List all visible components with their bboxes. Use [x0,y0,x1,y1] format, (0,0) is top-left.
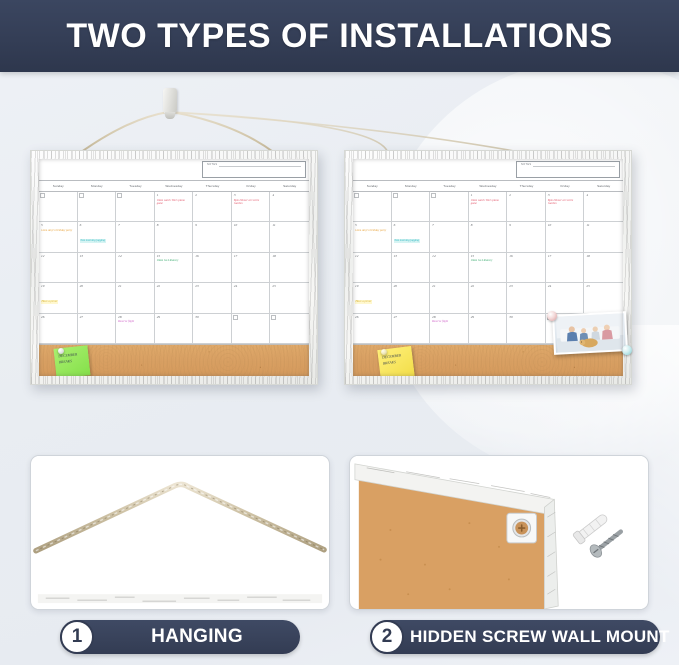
calendar-cell[interactable]: 511am Amy's birthday party [353,222,392,252]
badge-number-2: 2 [370,620,404,654]
rope-detail-illustration [31,456,329,609]
family-photo-artwork [554,313,626,353]
day-checkbox[interactable] [271,315,276,320]
calendar-cell[interactable]: 30 [193,314,232,344]
day-number: 6 [394,223,428,228]
notes-box-left[interactable]: NOTES [202,161,306,178]
calendar-entry: 11am Amy's birthday party [355,229,389,233]
calendar-cell[interactable]: 110am watch Tim's piano game [155,192,194,222]
calendar-cell[interactable]: 25 [584,283,623,313]
calendar-cell[interactable]: 17 [546,253,585,283]
calendar-cell[interactable]: 10 [546,222,585,252]
calendar-grid-left[interactable]: 110am watch Tim's piano game238pm Dinner… [39,192,309,344]
day-checkbox[interactable] [431,193,436,198]
calendar-cell[interactable]: 8 [469,222,508,252]
day-number: 12 [355,254,389,259]
day-number: 30 [195,315,229,320]
day-number: 7 [432,223,466,228]
weekday-wednesday: Wednesday [469,181,508,192]
calendar-entry: 7am morning jogging [394,239,420,243]
weekday-header-left: Sunday Monday Tuesday Wednesday Thursday… [39,181,309,192]
calendar-cell[interactable]: 19Have a picnic [39,283,78,313]
day-number: 24 [234,284,268,289]
calendar-cell[interactable]: 7 [430,222,469,252]
day-number: 21 [118,284,152,289]
day-number: 10 [234,223,268,228]
calendar-cell[interactable]: 10 [232,222,271,252]
calendar-entry: 8pm Dinner at Centre Garden [234,199,268,206]
label-hanging[interactable]: 1 HANGING [60,620,300,654]
day-number: 13 [394,254,428,259]
calendar-cell[interactable]: 4 [270,192,309,222]
weekday-friday: Friday [546,181,585,192]
day-checkbox[interactable] [117,193,122,198]
day-number: 9 [509,223,543,228]
weekday-sunday: Sunday [39,181,78,192]
page-title: TWO TYPES OF INSTALLATIONS [66,17,612,56]
calendar-cell[interactable]: 14 [430,253,469,283]
calendar-cell[interactable]: 38pm Dinner at Centre Garden [232,192,271,222]
label-wall-mount-text: HIDDEN SCREW WALL MOUNT [404,627,676,647]
calendar-cell[interactable]: 21 [116,283,155,313]
calendar-entry: 10am watch Tim's piano game [471,199,505,206]
notes-box-right[interactable]: NOTES [516,161,620,178]
calendar-cell[interactable]: 2 [193,192,232,222]
calendar-cell[interactable]: 22 [469,283,508,313]
calendar-cell[interactable]: 29 [155,314,194,344]
calendar-cell[interactable]: 7 [116,222,155,252]
day-number: 29 [157,315,191,320]
calendar-cell[interactable]: 27 [392,314,431,344]
calendar-cell[interactable]: 29 [469,314,508,344]
calendar-cell[interactable]: 12 [353,253,392,283]
weekday-monday: Monday [392,181,431,192]
calendar-cell[interactable]: 9 [507,222,546,252]
calendar-cell[interactable]: 25 [270,283,309,313]
day-number: 14 [118,254,152,259]
day-number: 8 [471,223,505,228]
calendar-cell[interactable]: 16 [193,253,232,283]
calendar-entry: 7am morning jogging [80,239,106,243]
calendar-cell[interactable]: 23 [193,283,232,313]
calendar-cell[interactable]: 30 [507,314,546,344]
day-number: 14 [432,254,466,259]
family-photo[interactable] [552,311,628,355]
day-number: 17 [234,254,268,259]
weekday-saturday: Saturday [270,181,309,192]
weekday-monday: Monday [78,181,117,192]
calendar-cell[interactable]: 26 [353,314,392,344]
calendar-cell[interactable]: 13 [392,253,431,283]
notes-label-right: NOTES [521,163,531,166]
day-number: 29 [471,315,505,320]
calendar-cell[interactable] [78,192,117,222]
calendar-entry: 8pm Dinner at Centre Garden [548,199,582,206]
screw-mount-illustration [350,456,648,609]
calendar-cell[interactable]: 20 [78,283,117,313]
weekday-tuesday: Tuesday [116,181,155,192]
calendar-entry: Have a picnic [355,300,372,304]
notes-row-left: NOTES [39,159,309,181]
weekday-saturday: Saturday [584,181,623,192]
day-number: 22 [157,284,191,289]
day-number: 20 [394,284,428,289]
day-number: 13 [80,254,114,259]
calendar-cell[interactable]: 16 [507,253,546,283]
calendar-cell[interactable]: 1510am Go Libarary [469,253,508,283]
calendar-cell[interactable]: 28Reserve flight [116,314,155,344]
weekday-friday: Friday [232,181,271,192]
calendar-entry: Reserve flight [432,320,466,324]
day-number: 19 [355,284,389,289]
day-number: 26 [41,315,75,320]
calendar-cell[interactable]: 12 [39,253,78,283]
calendar-cell[interactable] [392,192,431,222]
notes-label-left: NOTES [207,163,217,166]
calendar-cell[interactable]: 24 [546,283,585,313]
calendar-cell[interactable]: 11 [270,222,309,252]
calendar-entry: Reserve flight [118,320,152,324]
calendar-cell[interactable]: 18 [270,253,309,283]
weekday-thursday: Thursday [507,181,546,192]
calendar-boards-row: NOTES Sunday Monday Tuesday Wednesday Th… [0,150,679,400]
notes-rule-left [219,166,301,167]
calendar-cell[interactable]: 14 [116,253,155,283]
weekday-tuesday: Tuesday [430,181,469,192]
weekday-sunday: Sunday [353,181,392,192]
calendar-cell[interactable] [353,192,392,222]
calendar-cell[interactable]: 17 [232,253,271,283]
day-number: 16 [195,254,229,259]
calendar-cell[interactable]: 38pm Dinner at Centre Garden [546,192,585,222]
day-number: 25 [586,284,621,289]
badge-number-1: 1 [60,620,94,654]
push-pin-icon-right [381,349,387,355]
calendar-cell[interactable]: 28Reserve flight [430,314,469,344]
calendar-cell[interactable]: 19Have a picnic [353,283,392,313]
calendar-cell[interactable] [270,314,309,344]
calendar-cell[interactable]: 8 [155,222,194,252]
day-number: 16 [509,254,543,259]
board-face-left: NOTES Sunday Monday Tuesday Wednesday Th… [39,159,309,376]
calendar-cell[interactable] [116,192,155,222]
day-number: 7 [118,223,152,228]
calendar-cell[interactable]: 110am watch Tim's piano game [469,192,508,222]
day-number: 18 [586,254,621,259]
calendar-cell[interactable]: 24 [232,283,271,313]
calendar-cell[interactable]: 1510am Go Libarary [155,253,194,283]
calendar-cell[interactable]: 26 [39,314,78,344]
day-number: 18 [272,254,307,259]
weekday-header-right: Sunday Monday Tuesday Wednesday Thursday… [353,181,623,192]
calendar-entry: 10am watch Tim's piano game [157,199,191,206]
weekday-wednesday: Wednesday [155,181,194,192]
calendar-entry: 11am Amy's birthday party [41,229,75,233]
day-number: 23 [509,284,543,289]
family-photo-image [554,313,626,353]
calendar-cell[interactable]: 20 [392,283,431,313]
day-number: 30 [509,315,543,320]
day-number: 12 [41,254,75,259]
day-number: 4 [586,193,621,198]
day-number: 2 [195,193,229,198]
day-number: 17 [548,254,582,259]
day-number: 24 [548,284,582,289]
calendar-cell[interactable]: 22 [155,283,194,313]
calendar-cell[interactable]: 23 [507,283,546,313]
calendar-cell[interactable]: 9 [193,222,232,252]
calendar-cell[interactable] [232,314,271,344]
calendar-cell[interactable]: 21 [430,283,469,313]
calendar-board-right[interactable]: NOTES Sunday Monday Tuesday Wednesday Th… [344,150,632,385]
day-checkbox[interactable] [233,315,238,320]
day-number: 8 [157,223,191,228]
calendar-entry: 10am Go Libarary [471,259,505,263]
calendar-cell[interactable] [430,192,469,222]
wall-hook-icon [163,88,177,114]
day-number: 20 [80,284,114,289]
calendar-cell[interactable]: 67am morning jogging [78,222,117,252]
day-number: 10 [548,223,582,228]
calendar-cell[interactable]: 18 [584,253,623,283]
day-number: 9 [195,223,229,228]
label-hanging-text: HANGING [94,626,300,648]
day-number: 11 [586,223,621,228]
day-number: 27 [80,315,114,320]
day-checkbox[interactable] [393,193,398,198]
label-wall-mount[interactable]: 2 HIDDEN SCREW WALL MOUNT [370,620,660,654]
notes-row-right: NOTES [353,159,623,181]
day-number: 2 [509,193,543,198]
push-pin-icon-left [58,348,64,354]
calendar-cell[interactable] [39,192,78,222]
detail-panel-screw-mount [349,455,649,610]
day-number: 23 [195,284,229,289]
calendar-cell[interactable]: 4 [584,192,623,222]
day-number: 21 [432,284,466,289]
header-banner: TWO TYPES OF INSTALLATIONS [0,0,679,72]
day-number: 26 [355,315,389,320]
day-number: 25 [272,284,307,289]
weekday-thursday: Thursday [193,181,232,192]
calendar-entry: 10am Go Libarary [157,259,191,263]
day-checkbox[interactable] [79,193,84,198]
calendar-cell[interactable]: 67am morning jogging [392,222,431,252]
day-number: 19 [41,284,75,289]
calendar-cell[interactable]: 27 [78,314,117,344]
notes-rule-right [533,166,615,167]
calendar-entry: Have a picnic [41,300,58,304]
calendar-cell[interactable]: 511am Amy's birthday party [39,222,78,252]
day-checkbox[interactable] [40,193,45,198]
day-number: 11 [272,223,307,228]
calendar-board-left[interactable]: NOTES Sunday Monday Tuesday Wednesday Th… [30,150,318,385]
day-checkbox[interactable] [354,193,359,198]
day-number: 4 [272,193,307,198]
day-number: 27 [394,315,428,320]
detail-panel-hanging [30,455,330,610]
calendar-cell[interactable]: 11 [584,222,623,252]
day-number: 6 [80,223,114,228]
day-number: 22 [471,284,505,289]
calendar-cell[interactable]: 2 [507,192,546,222]
cork-strip-left[interactable]: DECEMBER BREAKS [39,344,309,376]
calendar-cell[interactable]: 13 [78,253,117,283]
